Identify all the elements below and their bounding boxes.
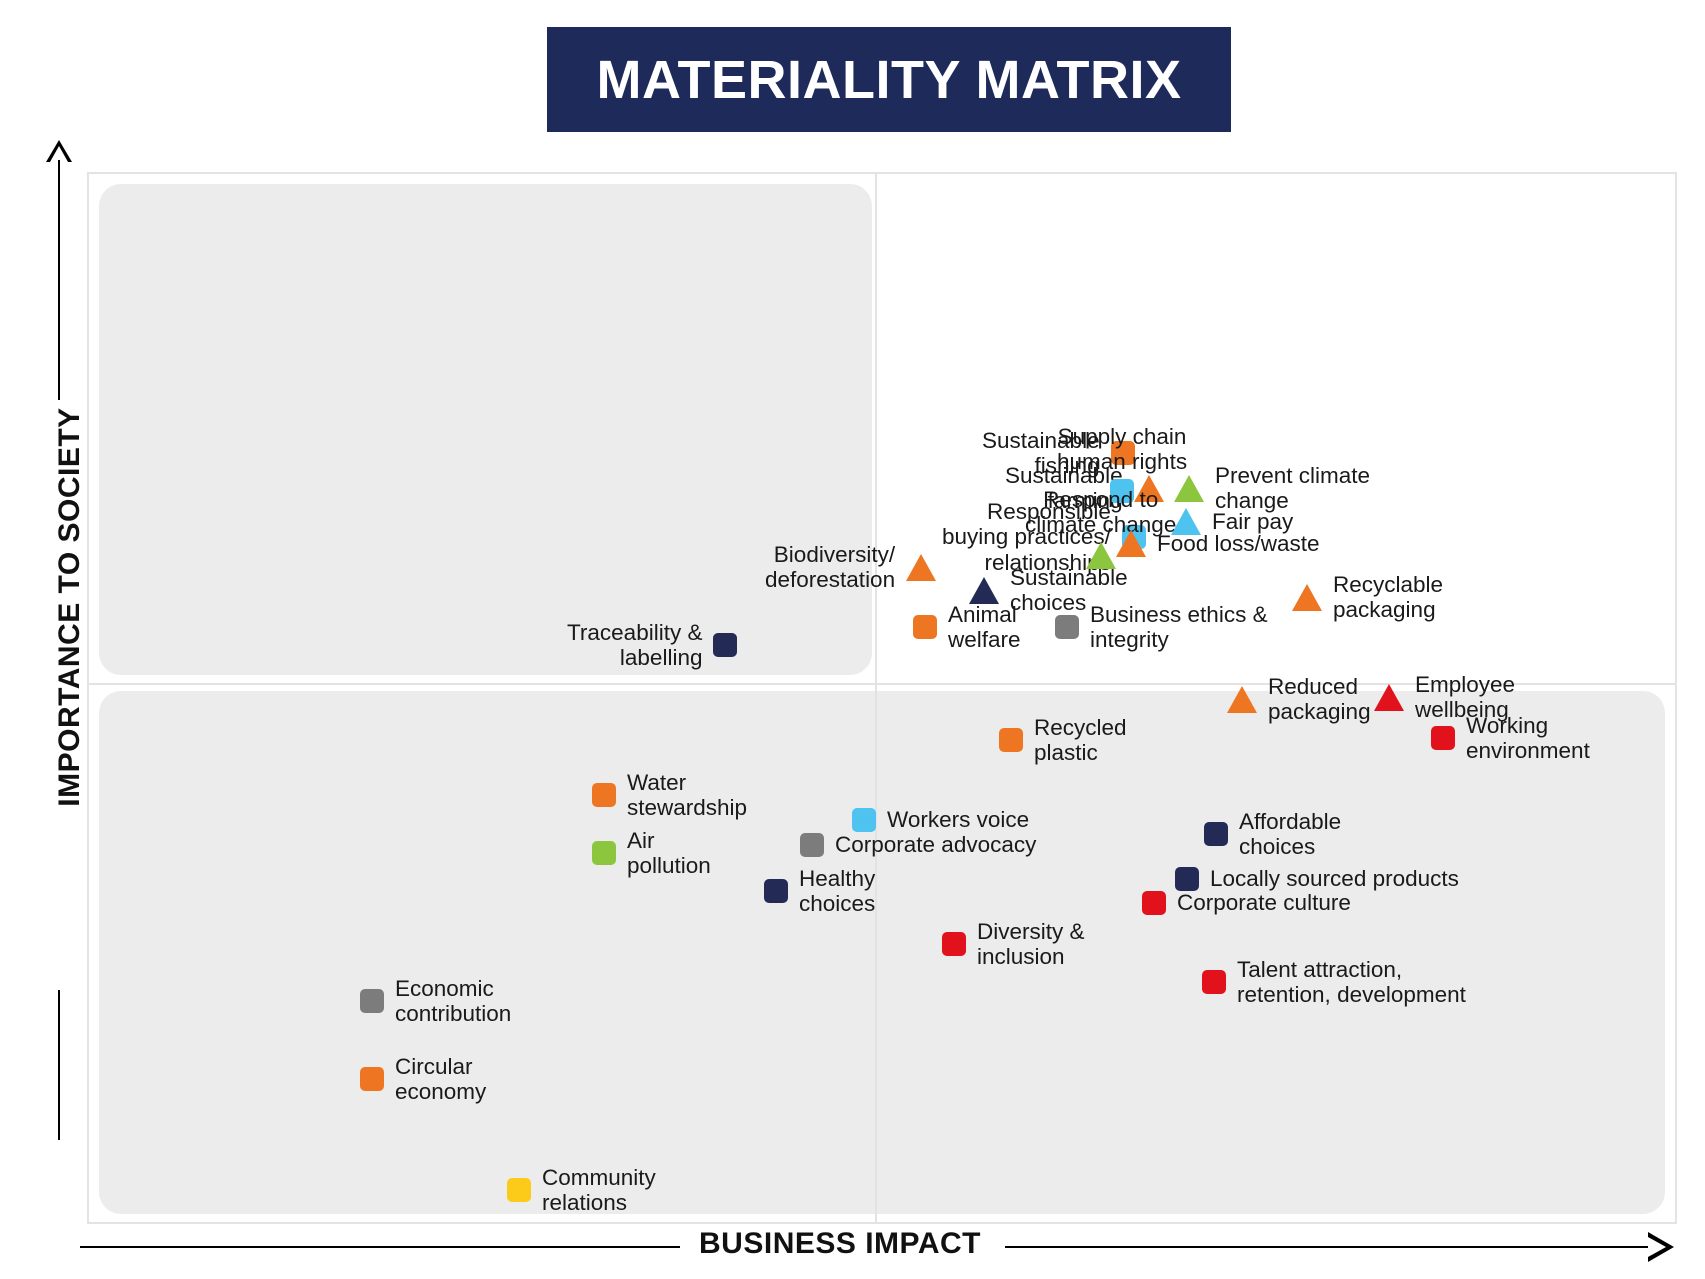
data-point-label: Affordablechoices [1239,809,1341,860]
data-point-biodiversity-deforestation[interactable]: Biodiversity/deforestation [765,542,936,593]
data-point-recycled-plastic[interactable]: Recycledplastic [999,715,1127,766]
square-marker-icon [592,783,616,807]
x-axis-line-left [80,1246,680,1248]
square-marker-icon [1431,726,1455,750]
data-point-locally-sourced-products[interactable]: Locally sourced products [1175,866,1459,891]
data-point-prevent-climate-change[interactable]: Prevent climatechange [1174,463,1370,514]
square-marker-icon [592,841,616,865]
data-point-label: Talent attraction,retention, development [1237,957,1466,1008]
triangle-marker-icon [906,554,936,581]
data-point-label: Recycledplastic [1034,715,1127,766]
square-marker-icon [1204,822,1228,846]
data-point-label: Healthychoices [799,866,875,917]
square-marker-icon [764,879,788,903]
square-marker-icon [1175,867,1199,891]
data-point-label: Circulareconomy [395,1054,486,1105]
y-axis: IMPORTANCE TO SOCIETY [30,140,90,1140]
arrow-right-icon [1648,1232,1674,1262]
data-point-label: Diversity &inclusion [977,919,1085,970]
square-marker-icon [360,1067,384,1091]
data-point-talent-attraction[interactable]: Talent attraction,retention, development [1202,957,1466,1008]
data-point-corporate-culture[interactable]: Corporate culture [1142,890,1351,915]
data-point-business-ethics-integrity[interactable]: Business ethics &integrity [1055,602,1268,653]
data-point-label: Animalwelfare [948,602,1021,653]
data-point-label: Supply chainhuman rights [1057,424,1187,475]
data-point-label: Traceability &labelling [567,620,702,671]
square-marker-icon [999,728,1023,752]
data-point-workers-voice[interactable]: Workers voice [852,807,1029,832]
data-point-diversity-inclusion[interactable]: Diversity &inclusion [942,919,1085,970]
data-point-economic-contribution[interactable]: Economiccontribution [360,976,511,1027]
data-point-label: Reducedpackaging [1268,674,1371,725]
data-point-label: Corporate advocacy [835,832,1036,857]
data-point-label: Prevent climatechange [1215,463,1370,514]
y-axis-label: IMPORTANCE TO SOCIETY [53,327,87,887]
data-point-water-stewardship[interactable]: Waterstewardship [592,770,747,821]
data-point-label: Communityrelations [542,1165,656,1216]
data-point-label: Food loss/waste [1157,531,1320,556]
square-marker-icon [1055,615,1079,639]
triangle-marker-icon [969,577,999,604]
data-point-corporate-advocacy[interactable]: Corporate advocacy [800,832,1036,857]
page-title: MATERIALITY MATRIX [597,49,1182,111]
data-point-label: Waterstewardship [627,770,747,821]
data-point-label: Economiccontribution [395,976,511,1027]
x-axis: BUSINESS IMPACT [80,1226,1680,1276]
data-point-air-pollution[interactable]: Airpollution [592,828,711,879]
data-point-label: Business ethics &integrity [1090,602,1268,653]
data-point-traceability-labelling[interactable]: Traceability &labelling [567,620,737,671]
quadrant-bottom-shading [99,691,1665,1214]
square-marker-icon [1202,970,1226,994]
data-point-label: Airpollution [627,828,711,879]
data-point-affordable-choices[interactable]: Affordablechoices [1204,809,1341,860]
data-point-animal-welfare[interactable]: Animalwelfare [913,602,1021,653]
data-point-circular-economy[interactable]: Circulareconomy [360,1054,486,1105]
x-axis-line-right [1005,1246,1655,1248]
square-marker-icon [800,833,824,857]
triangle-marker-icon [1227,686,1257,713]
data-point-label: Biodiversity/deforestation [765,542,895,593]
data-point-label: Locally sourced products [1210,866,1459,891]
data-point-working-environment[interactable]: Workingenvironment [1431,713,1590,764]
triangle-marker-icon [1174,475,1204,502]
square-marker-icon [913,615,937,639]
title-banner: MATERIALITY MATRIX [547,27,1231,132]
data-point-label: Workingenvironment [1466,713,1590,764]
data-point-label: Recyclablepackaging [1333,572,1443,623]
triangle-marker-icon [1374,684,1404,711]
y-axis-line-lower [58,990,60,1140]
data-point-recyclable-packaging[interactable]: Recyclablepackaging [1292,572,1443,623]
data-point-community-relations[interactable]: Communityrelations [507,1165,656,1216]
square-marker-icon [507,1178,531,1202]
data-point-reduced-packaging[interactable]: Reducedpackaging [1227,674,1371,725]
square-marker-icon [852,808,876,832]
square-marker-icon [942,932,966,956]
data-point-healthy-choices[interactable]: Healthychoices [764,866,875,917]
materiality-matrix-plot: SustainablefishingSustainablefarmingSupp… [87,172,1677,1224]
square-marker-icon [360,989,384,1013]
quadrant-divider-vertical [875,174,877,1222]
arrow-up-icon [46,140,72,162]
x-axis-label: BUSINESS IMPACT [680,1227,1000,1261]
data-point-label: Corporate culture [1177,890,1351,915]
square-marker-icon [713,633,737,657]
triangle-marker-icon [1116,530,1146,557]
square-marker-icon [1142,891,1166,915]
triangle-marker-icon [1292,584,1322,611]
data-point-label: Workers voice [887,807,1029,832]
quadrant-top-left-shading [99,184,872,675]
data-point-food-loss-waste[interactable]: Food loss/waste [1116,530,1320,557]
